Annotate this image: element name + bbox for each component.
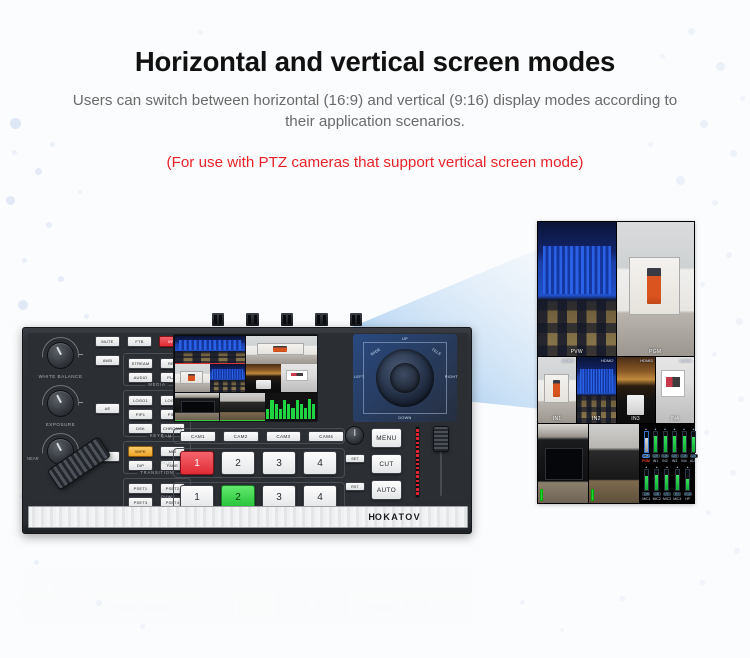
channel-gain-knob[interactable]: 0dB: [690, 454, 698, 458]
reset-button[interactable]: RST: [345, 482, 365, 491]
background-dot: [520, 600, 525, 605]
transition-group-title: TRANSITION: [137, 470, 176, 475]
channel-level-meter: [663, 431, 668, 453]
channel-label: MIC4: [673, 497, 681, 501]
mixer-bottom-channel[interactable]: ▴0dBMIC1: [642, 465, 651, 501]
lcd-pane-1: [175, 336, 246, 364]
connector-icon: [281, 313, 293, 326]
logo1-button[interactable]: LOGO1: [128, 395, 153, 406]
lcd-meter-bar: [279, 409, 282, 419]
led-indicator: [416, 459, 419, 462]
connector-icon: [212, 313, 224, 326]
input-3-tag: HDMI3: [640, 358, 652, 363]
cam1-button[interactable]: CAM1: [180, 431, 216, 442]
led-indicator: [416, 492, 419, 495]
page-title: Horizontal and vertical screen modes: [0, 46, 750, 78]
joystick-left-label: LEFT: [354, 375, 364, 379]
cam3-button[interactable]: CAM3: [266, 431, 302, 442]
channel-label: MIC2: [653, 497, 661, 501]
channel-gain-knob[interactable]: 0dB: [652, 454, 660, 458]
channel-label: MIC3: [663, 497, 671, 501]
input-3-label: IN3: [617, 416, 655, 422]
ptz-joystick[interactable]: UP DOWN LEFT RIGHT WIDE TELE: [353, 334, 457, 422]
channel-label: IN3: [672, 459, 677, 463]
lcd-audio-meters: [265, 393, 316, 421]
input-1-tag: HDMI1: [562, 358, 574, 363]
background-dot: [140, 624, 145, 629]
lcd-pane-7: [175, 393, 220, 421]
focus-near-label: NEAR: [27, 456, 39, 461]
mixer-bottom-channel[interactable]: ▴PGMHP: [683, 465, 692, 501]
cam4-button[interactable]: CAM4: [308, 431, 344, 442]
lcd-meter-bar: [275, 404, 278, 418]
console-body: WHITE BALANCE EXPOSURE NEAR FAR FOCUS AW…: [22, 327, 472, 534]
background-dot: [620, 596, 625, 601]
mixer-top-channel[interactable]: ▴0dBPGM: [642, 427, 650, 463]
channel-label: MIC1: [642, 497, 650, 501]
channel-gain-knob[interactable]: 0dB: [642, 454, 650, 458]
channel-gain-knob[interactable]: 0dB: [680, 454, 688, 458]
exposure-knob-group[interactable]: EXPOSURE: [47, 390, 74, 417]
led-indicator: [416, 488, 419, 491]
montage-row-3: ▴0dBPGM▴0dBIN1▴0dBIN2▴0dBIN3▴0dBIN4▴0dBA…: [538, 424, 694, 503]
background-dot: [700, 580, 705, 585]
led-indicator: [416, 429, 419, 432]
pgm-button-1[interactable]: 1: [180, 451, 214, 475]
program-pane-label: PGM: [617, 349, 695, 355]
background-dot: [730, 470, 736, 476]
background-dot: [700, 282, 705, 287]
stream-button[interactable]: STREAM: [128, 358, 153, 369]
channel-level-meter: [664, 469, 669, 491]
background-dot: [58, 276, 64, 282]
lcd-pane-8: [220, 393, 265, 421]
channel-level-meter: [654, 469, 659, 491]
channel-gain-knob[interactable]: 0dB: [661, 454, 669, 458]
background-dot: [22, 258, 27, 263]
menu-knob[interactable]: [345, 426, 364, 445]
mute-button[interactable]: MUTE: [95, 336, 120, 347]
channel-gain-knob[interactable]: 0dB: [642, 492, 650, 496]
mixer-bottom-channel[interactable]: ▴0dBMIC2: [652, 465, 661, 501]
background-dot: [712, 200, 718, 206]
background-dot: [18, 300, 28, 310]
channel-level-meter: [644, 469, 649, 491]
joystick-right-label: RIGHT: [445, 375, 458, 379]
mixer-top-channel[interactable]: ▴0dBIN4: [680, 427, 688, 463]
lcd-pane-3: [175, 364, 210, 392]
wipe-button[interactable]: WIPE: [128, 446, 153, 457]
joystick-tele-label: TELE: [431, 347, 442, 356]
video-switcher-console: WHITE BALANCE EXPOSURE NEAR FAR FOCUS AW…: [22, 313, 492, 603]
background-dot: [6, 196, 15, 205]
input-4-pane: HDMI4 IN4: [656, 357, 694, 424]
aux-1-pane: [538, 424, 588, 503]
channel-label: AUX: [690, 459, 697, 463]
awb-button[interactable]: AWB: [95, 355, 120, 366]
lcd-meter-bar: [283, 400, 286, 419]
channel-label: HP: [685, 497, 690, 501]
program-row-tag: PGM: [161, 461, 172, 466]
led-indicator: [416, 442, 419, 445]
montage-row-1: PVW PGM: [538, 222, 694, 356]
background-dot: [712, 352, 717, 357]
led-indicator: [416, 437, 419, 440]
input-2-tag: HDMI2: [601, 358, 613, 363]
connector-icon: [315, 313, 327, 326]
channel-level-meter: [675, 469, 680, 491]
preview-pane-label: PVW: [538, 349, 616, 355]
joystick-ball[interactable]: [376, 349, 434, 407]
input-4-label: IN4: [656, 416, 694, 422]
background-dot: [734, 548, 740, 554]
brand-strip: HOKATOV: [28, 506, 468, 528]
background-dot: [738, 396, 744, 402]
lcd-meter-bar: [270, 400, 273, 418]
montage-row-2: HDMI1 IN1 HDMI2 IN2 HDMI3 IN3 HDMI4 IN4: [538, 357, 694, 424]
channel-gain-knob[interactable]: MIC: [673, 492, 681, 496]
lcd-meter-bar: [287, 404, 290, 418]
compatibility-note: (For use with PTZ cameras that support v…: [0, 154, 750, 171]
lcd-meter-bar: [296, 400, 299, 419]
brand-logo: HOKATOV: [367, 512, 421, 522]
program-pane: PGM: [617, 222, 695, 356]
transition-led-strip: [415, 426, 420, 498]
camera-row-tag: CAM: [161, 434, 172, 439]
exposure-knob[interactable]: [47, 390, 74, 417]
mixer-bottom-channel[interactable]: ▴MICMIC4: [673, 465, 682, 501]
page-subtitle: Users can switch between horizontal (16:…: [0, 90, 750, 132]
program-bus-row: PGM 1 2 3 4: [173, 448, 345, 478]
white-balance-knob[interactable]: [47, 342, 74, 369]
media-group-title: MEDIA: [145, 382, 168, 387]
led-indicator: [416, 446, 419, 449]
preview-pane: PVW: [538, 222, 616, 356]
background-dot: [726, 252, 732, 258]
channel-gain-knob[interactable]: PGM: [684, 492, 692, 496]
channel-level-meter: [653, 431, 658, 453]
input-2-pane: HDMI2 IN2: [577, 357, 615, 424]
lcd-meter-bar: [291, 408, 294, 418]
input-1-label: IN1: [538, 416, 576, 422]
led-indicator: [416, 450, 419, 453]
white-balance-label: WHITE BALANCE: [38, 374, 82, 379]
mixer-top-channel[interactable]: ▴0dBIN3: [671, 427, 679, 463]
input-2-label: IN2: [577, 416, 615, 422]
connector-icon: [350, 313, 362, 326]
built-in-multiview-display: [173, 334, 318, 422]
pgm-button-2[interactable]: 2: [221, 451, 255, 475]
led-indicator: [416, 480, 419, 483]
mixer-top-channel[interactable]: ▴0dBIN1: [652, 427, 660, 463]
background-dot: [706, 510, 711, 515]
joystick-down-label: DOWN: [398, 416, 411, 420]
cam2-button[interactable]: CAM2: [223, 431, 259, 442]
menu-button[interactable]: MENU: [371, 428, 402, 448]
connector-icon: [246, 313, 258, 326]
input-4-tag: HDMI4: [680, 358, 692, 363]
tbar-fader[interactable]: [433, 426, 449, 498]
preview-row-tag: PVW: [161, 495, 172, 500]
mixer-top-channel[interactable]: ▴0dBIN2: [661, 427, 669, 463]
background-dot: [676, 176, 685, 185]
mixer-bottom-channel[interactable]: ▴MICMIC3: [663, 465, 672, 501]
lcd-pane-4: [210, 364, 245, 392]
channel-gain-knob[interactable]: MIC: [663, 492, 671, 496]
header: Horizontal and vertical screen modes Use…: [0, 0, 750, 171]
channel-label: IN4: [681, 459, 686, 463]
preset1-button[interactable]: PSET1: [128, 483, 153, 494]
channel-gain-knob[interactable]: 0dB: [671, 454, 679, 458]
lcd-meter-bar: [312, 404, 315, 419]
background-dot: [78, 190, 82, 194]
brand-text: OKATOV: [375, 512, 421, 522]
aux-2-pane: [589, 424, 639, 503]
lcd-meter-bar: [304, 408, 307, 418]
audio-mixer-bottom-row: ▴0dBMIC1▴0dBMIC2▴MICMIC3▴MICMIC4▴PGMHP: [642, 465, 692, 501]
channel-label: PGM: [642, 459, 650, 463]
ae-button[interactable]: AE: [95, 403, 120, 414]
mixer-top-channel[interactable]: ▴0dBAUX: [690, 427, 698, 463]
led-indicator: [416, 433, 419, 436]
set-button[interactable]: SET: [345, 454, 365, 463]
pgm-button-4[interactable]: 4: [303, 451, 337, 475]
led-indicator: [416, 484, 419, 487]
camera-select-row: CAM CAM1 CAM2 CAM3 CAM4: [173, 428, 345, 444]
input-3-pane: HDMI3 IN3: [617, 357, 655, 424]
channel-level-meter: [644, 431, 649, 453]
tbar-handle[interactable]: [433, 426, 449, 452]
lcd-meter-bar: [266, 409, 269, 419]
channel-level-meter: [682, 431, 687, 453]
lcd-pane-6: [281, 364, 316, 392]
audio-mixer-pane: ▴0dBPGM▴0dBIN1▴0dBIN2▴0dBIN3▴0dBIN4▴0dBA…: [640, 424, 694, 503]
exposure-label: EXPOSURE: [46, 422, 76, 427]
vertical-multiview-montage: PVW PGM HDMI1 IN1 HDMI2 IN2 HDMI3 IN3 HD…: [537, 221, 695, 504]
led-indicator: [416, 463, 419, 466]
joystick-up-label: UP: [402, 337, 408, 341]
background-dot: [46, 222, 52, 228]
channel-level-meter: [691, 431, 696, 453]
lcd-meter-bar: [300, 404, 303, 419]
lcd-pane-5: [246, 364, 281, 392]
pgm-button-3[interactable]: 3: [262, 451, 296, 475]
background-dot: [704, 430, 709, 435]
background-dot: [560, 628, 564, 632]
auto-button[interactable]: AUTO: [371, 480, 402, 500]
input-1-pane: HDMI1 IN1: [538, 357, 576, 424]
channel-level-meter: [672, 431, 677, 453]
pip1-button[interactable]: PIP1: [128, 409, 153, 420]
led-indicator: [416, 454, 419, 457]
led-indicator: [416, 471, 419, 474]
joystick-wide-label: WIDE: [370, 347, 382, 356]
led-indicator: [416, 467, 419, 470]
white-balance-knob-group[interactable]: WHITE BALANCE: [47, 342, 74, 369]
lcd-meter-bar: [308, 399, 311, 418]
background-dot: [736, 318, 743, 325]
channel-label: IN2: [662, 459, 667, 463]
menu-knob-group[interactable]: [345, 426, 364, 445]
led-indicator: [416, 475, 419, 478]
audio-mixer-top-row: ▴0dBPGM▴0dBIN1▴0dBIN2▴0dBIN3▴0dBIN4▴0dBA…: [642, 427, 692, 463]
channel-gain-knob[interactable]: 0dB: [653, 492, 661, 496]
channel-level-meter: [685, 469, 690, 491]
ftb-button[interactable]: FTB: [127, 336, 152, 347]
channel-label: IN1: [653, 459, 658, 463]
lcd-pane-2: [246, 336, 317, 364]
cut-button[interactable]: CUT: [371, 454, 402, 474]
